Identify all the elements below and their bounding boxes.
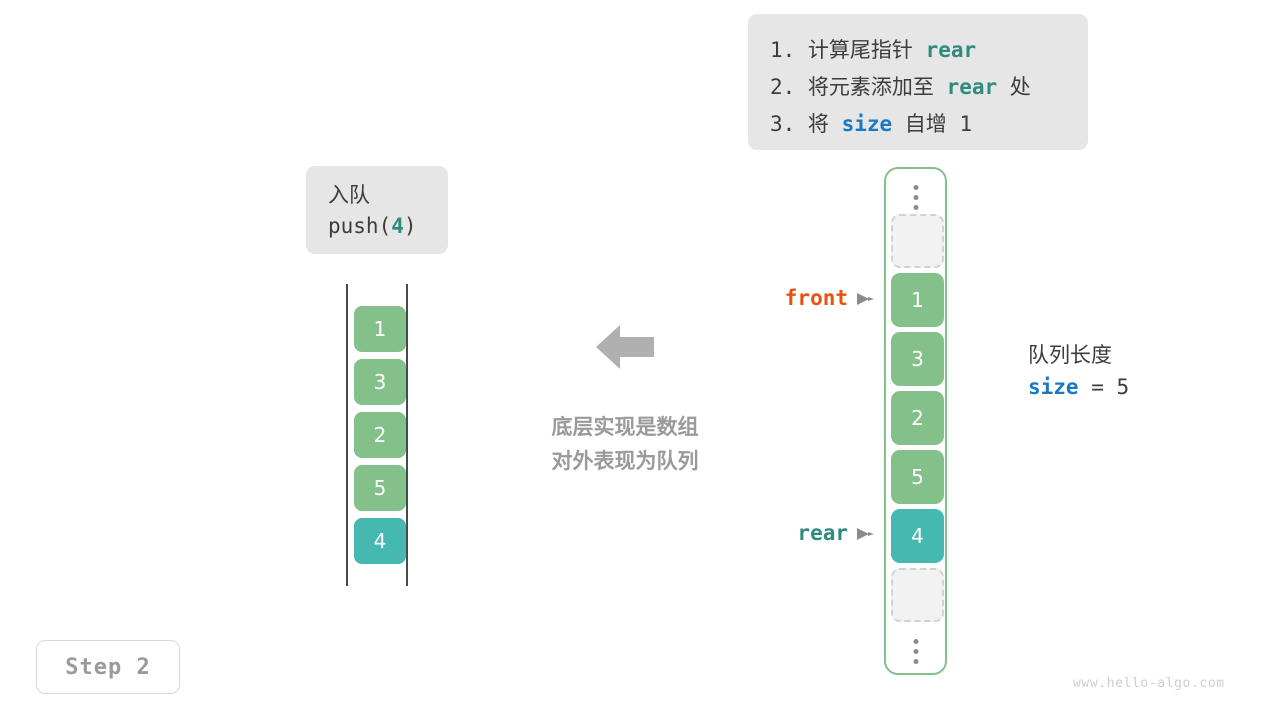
array-cell: 1 xyxy=(891,273,944,327)
rear-pointer-marker-icon xyxy=(855,526,875,546)
caption-line-1: 底层实现是数组 xyxy=(500,410,750,444)
queue-cell: 3 xyxy=(354,359,406,405)
watermark: www.hello-algo.com xyxy=(1073,676,1225,691)
queue-rail-left xyxy=(346,284,348,586)
size-annotation-expression: size = 5 xyxy=(1028,371,1129,404)
array-cell: 4 xyxy=(891,509,944,563)
queue-cell: 5 xyxy=(354,465,406,511)
instruction-line-3: 3. 将 size 自增 1 xyxy=(770,106,1088,143)
instruction-line-2-keyword: rear xyxy=(947,75,998,99)
flow-arrow-icon xyxy=(594,322,656,372)
instruction-line-1-text: 1. 计算尾指针 xyxy=(770,38,926,62)
front-pointer-label: front xyxy=(700,286,848,310)
push-callout-label: 入队 xyxy=(328,180,448,211)
triangle-right-icon xyxy=(855,291,875,307)
queue-cell: 2 xyxy=(354,412,406,458)
queue-cell: 1 xyxy=(354,306,406,352)
array-cell-empty xyxy=(891,214,944,268)
array-cell-empty xyxy=(891,568,944,622)
size-variable-name: size xyxy=(1028,375,1079,399)
size-annotation: 队列长度 size = 5 xyxy=(1028,340,1129,404)
instruction-panel: 1. 计算尾指针 rear 2. 将元素添加至 rear 处 3. 将 size… xyxy=(748,14,1088,150)
array-bottom-ellipsis-icon xyxy=(913,639,918,664)
rear-pointer-label: rear xyxy=(700,521,848,545)
queue-rail-right xyxy=(406,284,408,586)
triangle-right-icon xyxy=(855,526,875,542)
size-annotation-label: 队列长度 xyxy=(1028,340,1129,371)
queue-cell: 4 xyxy=(354,518,406,564)
arrow-left-icon xyxy=(594,322,656,372)
instruction-line-3-tail: 自增 1 xyxy=(892,112,972,136)
array-cell: 2 xyxy=(891,391,944,445)
instruction-line-1-keyword: rear xyxy=(926,38,977,62)
array-cell: 3 xyxy=(891,332,944,386)
size-equals: = xyxy=(1079,375,1117,399)
logical-queue: 1 3 2 5 4 xyxy=(346,284,408,586)
size-value: 5 xyxy=(1117,375,1130,399)
push-code-prefix: push( xyxy=(328,214,391,238)
instruction-line-2-tail: 处 xyxy=(997,75,1031,99)
caption-line-2: 对外表现为队列 xyxy=(500,444,750,478)
push-code-value: 4 xyxy=(391,214,404,238)
push-callout-code: push(4) xyxy=(328,211,448,242)
center-caption: 底层实现是数组 对外表现为队列 xyxy=(500,410,750,478)
instruction-line-2-text: 2. 将元素添加至 xyxy=(770,75,947,99)
instruction-line-1: 1. 计算尾指针 rear xyxy=(770,32,1088,69)
instruction-line-3-keyword: size xyxy=(842,112,893,136)
push-callout-box: 入队 push(4) xyxy=(306,166,448,254)
front-pointer-marker-icon xyxy=(855,291,875,311)
underlying-array: 1 3 2 5 4 xyxy=(884,167,947,675)
push-code-suffix: ) xyxy=(404,214,417,238)
array-cell: 5 xyxy=(891,450,944,504)
array-top-ellipsis-icon xyxy=(913,185,918,210)
instruction-line-3-text: 3. 将 xyxy=(770,112,842,136)
step-badge-label: Step 2 xyxy=(65,655,150,680)
instruction-line-2: 2. 将元素添加至 rear 处 xyxy=(770,69,1088,106)
step-badge: Step 2 xyxy=(36,640,180,694)
